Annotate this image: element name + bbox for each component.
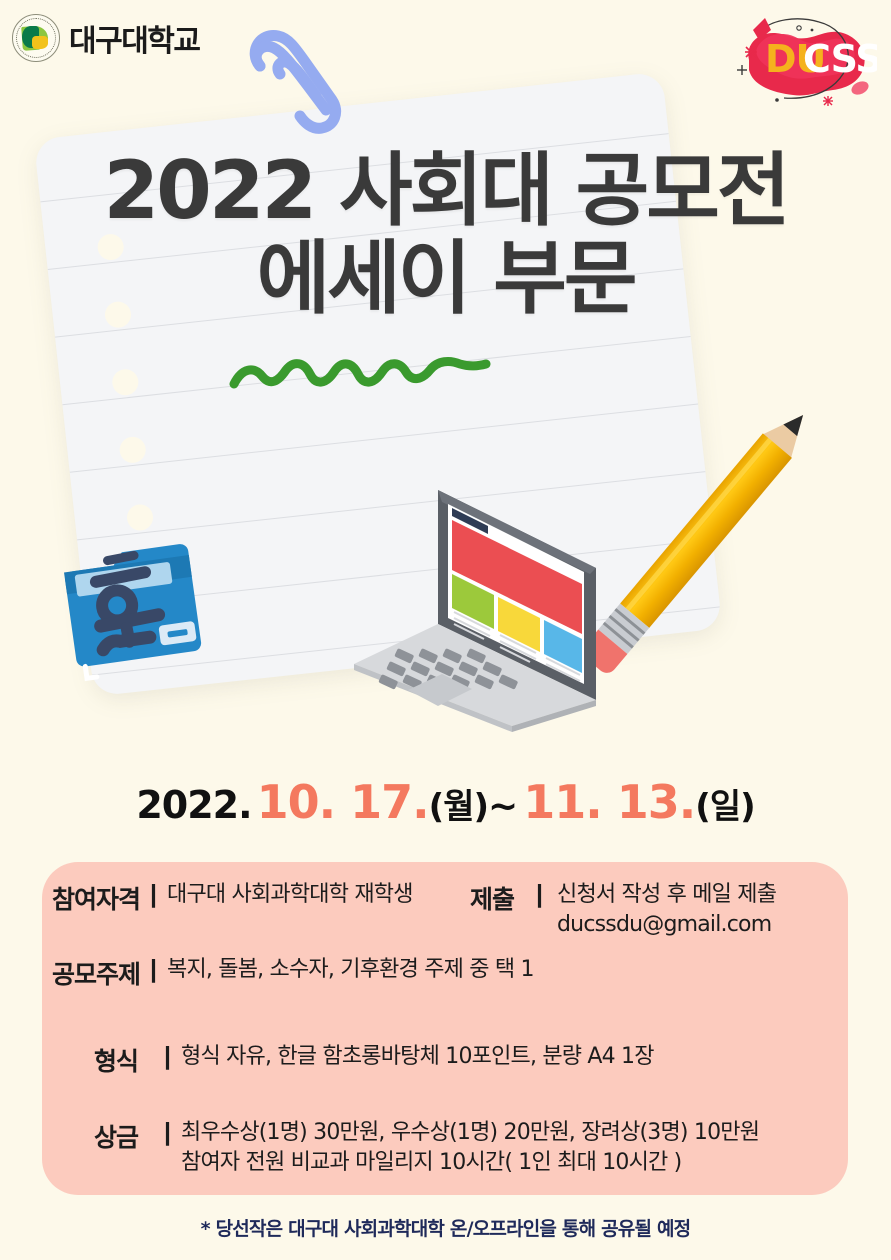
university-name: 대구대학교 bbox=[69, 16, 200, 60]
info-separator: | bbox=[150, 955, 157, 984]
footer-note: * 당선작은 대구대 사회과학대학 온/오프라인을 통해 공유될 예정 bbox=[0, 1214, 891, 1241]
date-start: 10. 17. bbox=[257, 775, 429, 829]
info-label-topic: 공모주제 bbox=[52, 955, 140, 991]
paperclip-icon bbox=[236, 18, 356, 148]
date-start-day: (월) bbox=[429, 787, 488, 827]
info-separator: | bbox=[536, 880, 543, 909]
info-value-submission-email[interactable]: ducssdu@gmail.com bbox=[557, 910, 776, 940]
info-label-prize: 상금 bbox=[78, 1118, 154, 1154]
poster-root: 대구대학교 DU CSS bbox=[0, 0, 891, 1260]
date-end-day: (일) bbox=[695, 787, 754, 827]
info-row-format: 형식 | 형식 자유, 한글 함초롱바탕체 10포인트, 분량 A4 1장 bbox=[78, 1042, 654, 1078]
date-year: 2022. bbox=[136, 783, 251, 827]
info-separator: | bbox=[164, 1042, 171, 1071]
blue-folder-badge-icon bbox=[52, 528, 232, 693]
info-value-format: 형식 자유, 한글 함초롱바탕체 10포인트, 분량 A4 1장 bbox=[181, 1042, 654, 1072]
info-row-submission: 제출 | 신청서 작성 후 메일 제출 ducssdu@gmail.com bbox=[470, 880, 776, 939]
date-tilde: ~ bbox=[488, 786, 518, 827]
info-value-submission-line1: 신청서 작성 후 메일 제출 bbox=[557, 880, 776, 910]
info-value-prize-line2: 참여자 전원 비교과 마일리지 10시간( 1인 최대 10시간 ) bbox=[181, 1148, 759, 1178]
info-label-qualification: 참여자격 bbox=[52, 880, 140, 916]
info-value-topic: 복지, 돌봄, 소수자, 기후환경 주제 중 택 1 bbox=[167, 955, 534, 985]
event-date-line: 2022. 10. 17.(월)~ 11. 13.(일) bbox=[0, 775, 891, 829]
info-row-topic: 공모주제 | 복지, 돌봄, 소수자, 기후환경 주제 중 택 1 bbox=[52, 955, 534, 991]
ducss-blob-logo-icon: DU CSS bbox=[727, 8, 877, 118]
info-row-qualification: 참여자격 | 대구대 사회과학대학 재학생 bbox=[52, 880, 413, 916]
info-value-prize-line1: 최우수상(1명) 30만원, 우수상(1명) 20만원, 장려상(3명) 10만… bbox=[181, 1118, 759, 1148]
green-squiggle-underline-icon bbox=[228, 352, 493, 394]
daegu-university-seal-icon bbox=[12, 14, 60, 62]
info-label-submission: 제출 bbox=[470, 880, 514, 916]
info-label-format: 형식 bbox=[78, 1042, 154, 1078]
ducss-css-text: CSS bbox=[803, 37, 877, 81]
info-separator: | bbox=[150, 880, 157, 909]
info-value-qualification: 대구대 사회과학대학 재학생 bbox=[167, 880, 413, 910]
info-row-prize: 상금 | 최우수상(1명) 30만원, 우수상(1명) 20만원, 장려상(3명… bbox=[78, 1118, 759, 1177]
university-logo: 대구대학교 bbox=[12, 14, 200, 62]
info-separator: | bbox=[164, 1118, 171, 1147]
date-end: 11. 13. bbox=[523, 775, 695, 829]
laptop-computer-icon bbox=[338, 468, 638, 733]
